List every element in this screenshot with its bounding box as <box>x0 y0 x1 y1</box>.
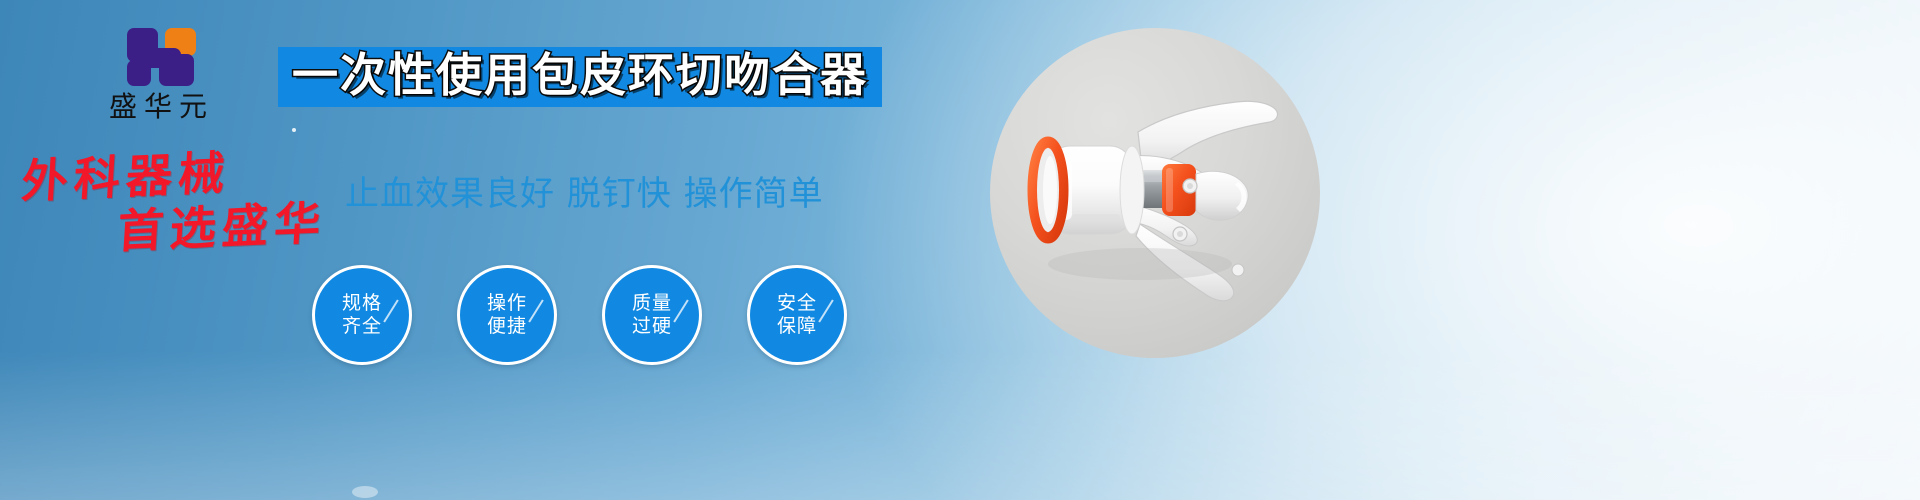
product-image <box>990 28 1320 358</box>
badge-label-line2: 保障 <box>777 315 817 338</box>
badge-specifications[interactable]: 规格 齐全 <box>312 265 412 365</box>
sparkle-decoration <box>352 486 378 498</box>
badge-label-line2: 齐全 <box>342 315 382 338</box>
calligraphy-line-2: 首选盛华 <box>116 199 328 254</box>
feature-badge-group: 规格 齐全 操作 便捷 质量 过硬 安全 保障 <box>312 265 847 365</box>
stapler-illustration-icon <box>990 28 1320 358</box>
brand-name: 盛华元 <box>68 92 248 123</box>
promotional-banner: 盛华元 一次性使用包皮环切吻合器 外科器械 首选盛华 止血效果良好 脱钉快 操作… <box>0 0 1920 500</box>
logo-mark-icon <box>115 26 201 88</box>
badge-quality[interactable]: 质量 过硬 <box>602 265 702 365</box>
logo-square-bottom-left <box>127 60 151 86</box>
calligraphy-line-1: 外科器械 <box>20 149 232 204</box>
badge-label-line1: 质量 <box>632 292 672 315</box>
page-title: 一次性使用包皮环切吻合器 <box>292 52 868 98</box>
brand-logo: 盛华元 <box>68 26 248 123</box>
slash-decoration-icon <box>673 299 688 322</box>
sparkle-decoration <box>292 128 296 132</box>
slash-decoration-icon <box>818 299 833 322</box>
subtitle: 止血效果良好 脱钉快 操作简单 <box>345 166 824 215</box>
badge-label-line1: 安全 <box>777 292 817 315</box>
slash-decoration-icon <box>383 299 398 322</box>
badge-label-line2: 便捷 <box>487 315 527 338</box>
badge-operation[interactable]: 操作 便捷 <box>457 265 557 365</box>
slash-decoration-icon <box>528 299 543 322</box>
badge-safety[interactable]: 安全 保障 <box>747 265 847 365</box>
badge-label-line1: 规格 <box>342 292 382 315</box>
logo-square-bottom-right <box>159 54 194 86</box>
badge-label-line1: 操作 <box>487 292 527 315</box>
main-title-bar: 一次性使用包皮环切吻合器 <box>278 47 882 107</box>
badge-label-line2: 过硬 <box>632 315 672 338</box>
